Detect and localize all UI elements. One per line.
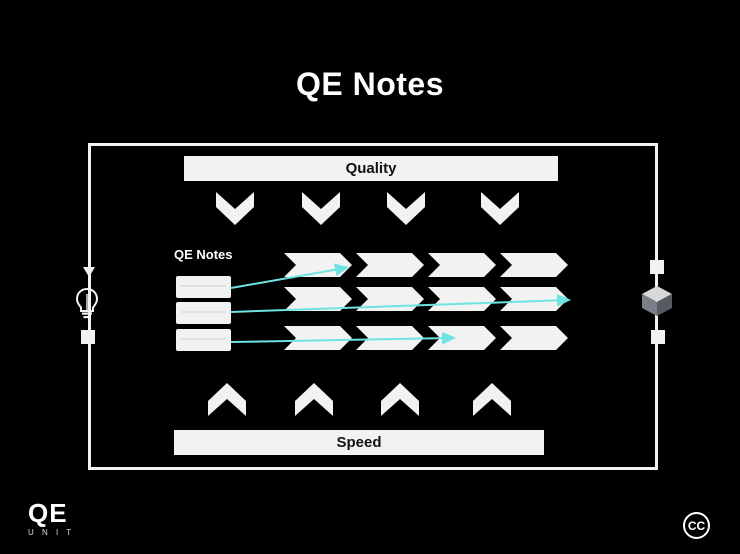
creative-commons-badge: CC (683, 512, 710, 539)
stripe-row-2 (284, 287, 574, 311)
down-chevron-3 (387, 192, 425, 230)
connector-node-left-bottom (81, 330, 95, 344)
brand-logo: QE U N I T (28, 500, 74, 537)
speed-band: Speed (174, 430, 544, 455)
cube-icon (639, 283, 675, 319)
brand-logo-secondary: U N I T (28, 528, 74, 537)
stripe-row-3 (284, 326, 574, 350)
down-chevron-4 (481, 192, 519, 230)
down-chevron-2 (302, 192, 340, 230)
slide-canvas: QE Notes Quality (0, 0, 740, 554)
inner-label: QE Notes (174, 247, 233, 262)
connector-node-right-top (650, 260, 664, 274)
up-chevron-2 (295, 383, 333, 421)
quality-band: Quality (184, 156, 558, 181)
note-card-1 (176, 276, 231, 298)
quality-band-label: Quality (346, 160, 397, 177)
up-chevron-1 (208, 383, 246, 421)
speed-band-label: Speed (336, 434, 381, 451)
up-chevron-3 (381, 383, 419, 421)
down-chevron-1 (216, 192, 254, 230)
up-chevron-4 (473, 383, 511, 421)
note-card-3 (176, 329, 231, 351)
stripe-row-1 (284, 253, 574, 277)
brand-logo-primary: QE (28, 500, 74, 526)
page-title: QE Notes (0, 66, 740, 103)
connector-node-right-bottom (651, 330, 665, 344)
note-card-2 (176, 302, 231, 324)
